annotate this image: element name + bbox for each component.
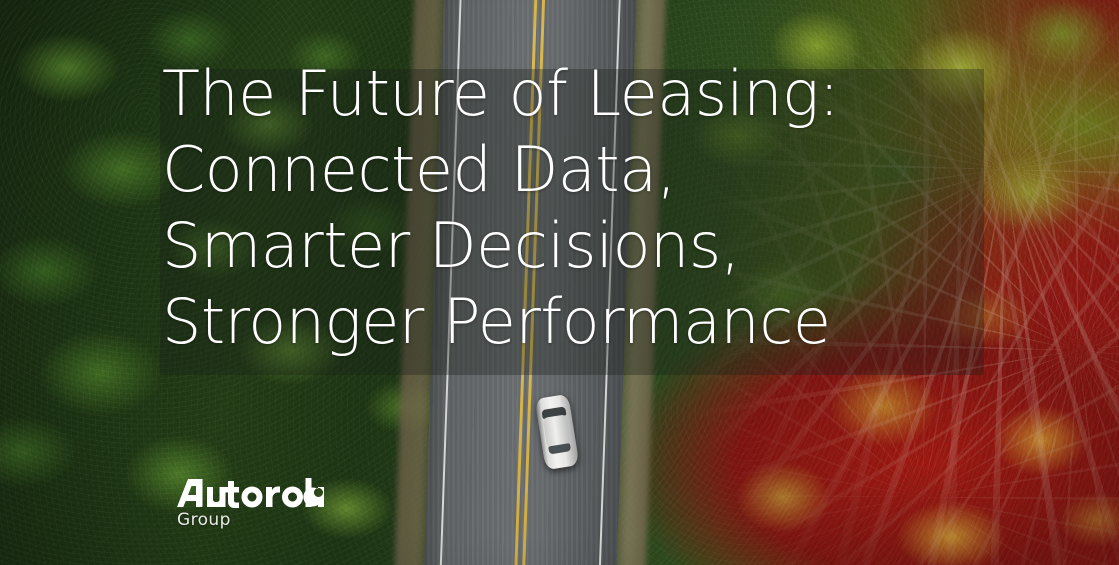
- headline-line-4: Stronger Performance: [162, 284, 1062, 360]
- headline-line-3: Smarter Decisions,: [162, 208, 1062, 284]
- autorola-wordmark-icon: [176, 478, 324, 508]
- logo-subtitle: Group: [177, 510, 406, 530]
- headline-line-1: The Future of Leasing:: [162, 56, 1062, 132]
- hero-banner: The Future of Leasing: Connected Data, S…: [0, 0, 1119, 565]
- headline: The Future of Leasing: Connected Data, S…: [162, 56, 1062, 360]
- logo[interactable]: Group: [176, 478, 406, 530]
- headline-line-2: Connected Data,: [162, 132, 1062, 208]
